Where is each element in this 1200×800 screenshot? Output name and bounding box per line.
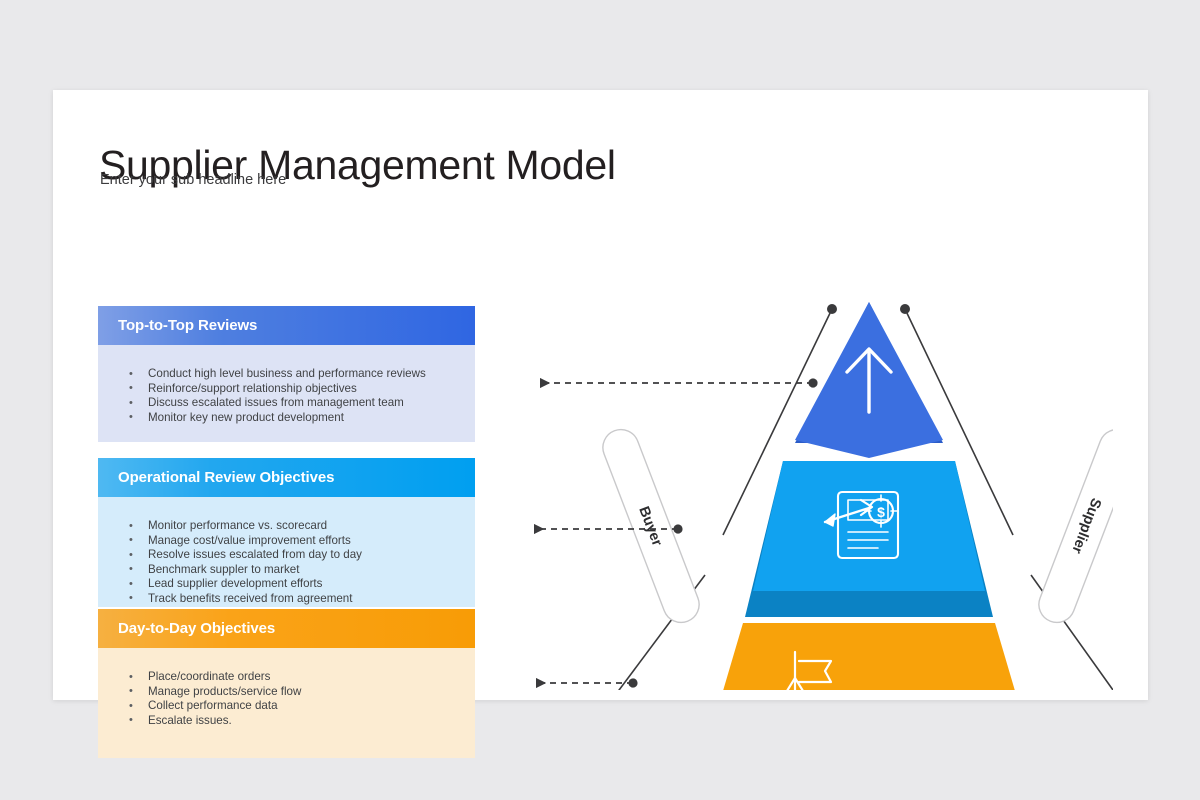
pyramid-level-middle[interactable]: $ xyxy=(745,461,993,617)
connector-middle-dot xyxy=(673,524,682,533)
panel-operational-review-objectives[interactable]: Operational Review Objectives Monitor pe… xyxy=(98,458,475,607)
base-face xyxy=(705,623,1033,690)
list-item: Escalate issues. xyxy=(126,714,465,729)
side-label-supplier[interactable]: Supplier xyxy=(1034,424,1113,627)
guide-dot-top-left xyxy=(827,304,837,314)
page-subtitle: Enter your sub headline here xyxy=(100,172,286,188)
panel-body-top-to-top-reviews: Conduct high level business and performa… xyxy=(98,345,475,442)
panel-header-day-to-day-objectives: Day-to-Day Objectives xyxy=(98,609,475,648)
list-item: Manage products/service flow xyxy=(126,685,465,700)
pyramid-level-apex[interactable] xyxy=(795,302,943,458)
slide-card: Supplier Management Model Enter your sub… xyxy=(53,90,1148,700)
list-item: Track benefits received from agreement xyxy=(126,592,465,607)
middle-face xyxy=(753,461,985,591)
guide-dot-top-right xyxy=(900,304,910,314)
panel-day-to-day-objectives[interactable]: Day-to-Day Objectives Place/coordinate o… xyxy=(98,609,475,758)
list-item: Collect performance data xyxy=(126,699,465,714)
list-item: Resolve issues escalated from day to day xyxy=(126,548,465,563)
supplier-pill xyxy=(1034,424,1113,627)
list-item: Benchmark suppler to market xyxy=(126,563,465,578)
list-item: Monitor key new product development xyxy=(126,411,465,426)
list-item: Manage cost/value improvement efforts xyxy=(126,534,465,549)
panel-header-top-to-top-reviews: Top-to-Top Reviews xyxy=(98,306,475,345)
pyramid-level-base[interactable] xyxy=(705,623,1033,690)
list-item: Place/coordinate orders xyxy=(126,670,465,685)
panel-top-to-top-reviews[interactable]: Top-to-Top Reviews Conduct high level bu… xyxy=(98,306,475,442)
list-item: Discuss escalated issues from management… xyxy=(126,396,465,411)
side-label-buyer[interactable]: Buyer xyxy=(598,424,705,627)
list-item: Conduct high level business and performa… xyxy=(126,367,465,382)
slide-stage: Supplier Management Model Enter your sub… xyxy=(0,0,1200,800)
panel-header-operational-review-objectives: Operational Review Objectives xyxy=(98,458,475,497)
connector-bottom-dot xyxy=(628,678,637,687)
panel-body-day-to-day-objectives: Place/coordinate orders Manage products/… xyxy=(98,648,475,758)
svg-text:$: $ xyxy=(877,504,885,520)
list-item: Lead supplier development efforts xyxy=(126,577,465,592)
list-item: Monitor performance vs. scorecard xyxy=(126,519,465,534)
connector-top-dot xyxy=(808,378,817,387)
list-item: Reinforce/support relationship objective… xyxy=(126,382,465,397)
panel-body-operational-review-objectives: Monitor performance vs. scorecard Manage… xyxy=(98,497,475,607)
pyramid-diagram: $ xyxy=(473,190,1113,690)
